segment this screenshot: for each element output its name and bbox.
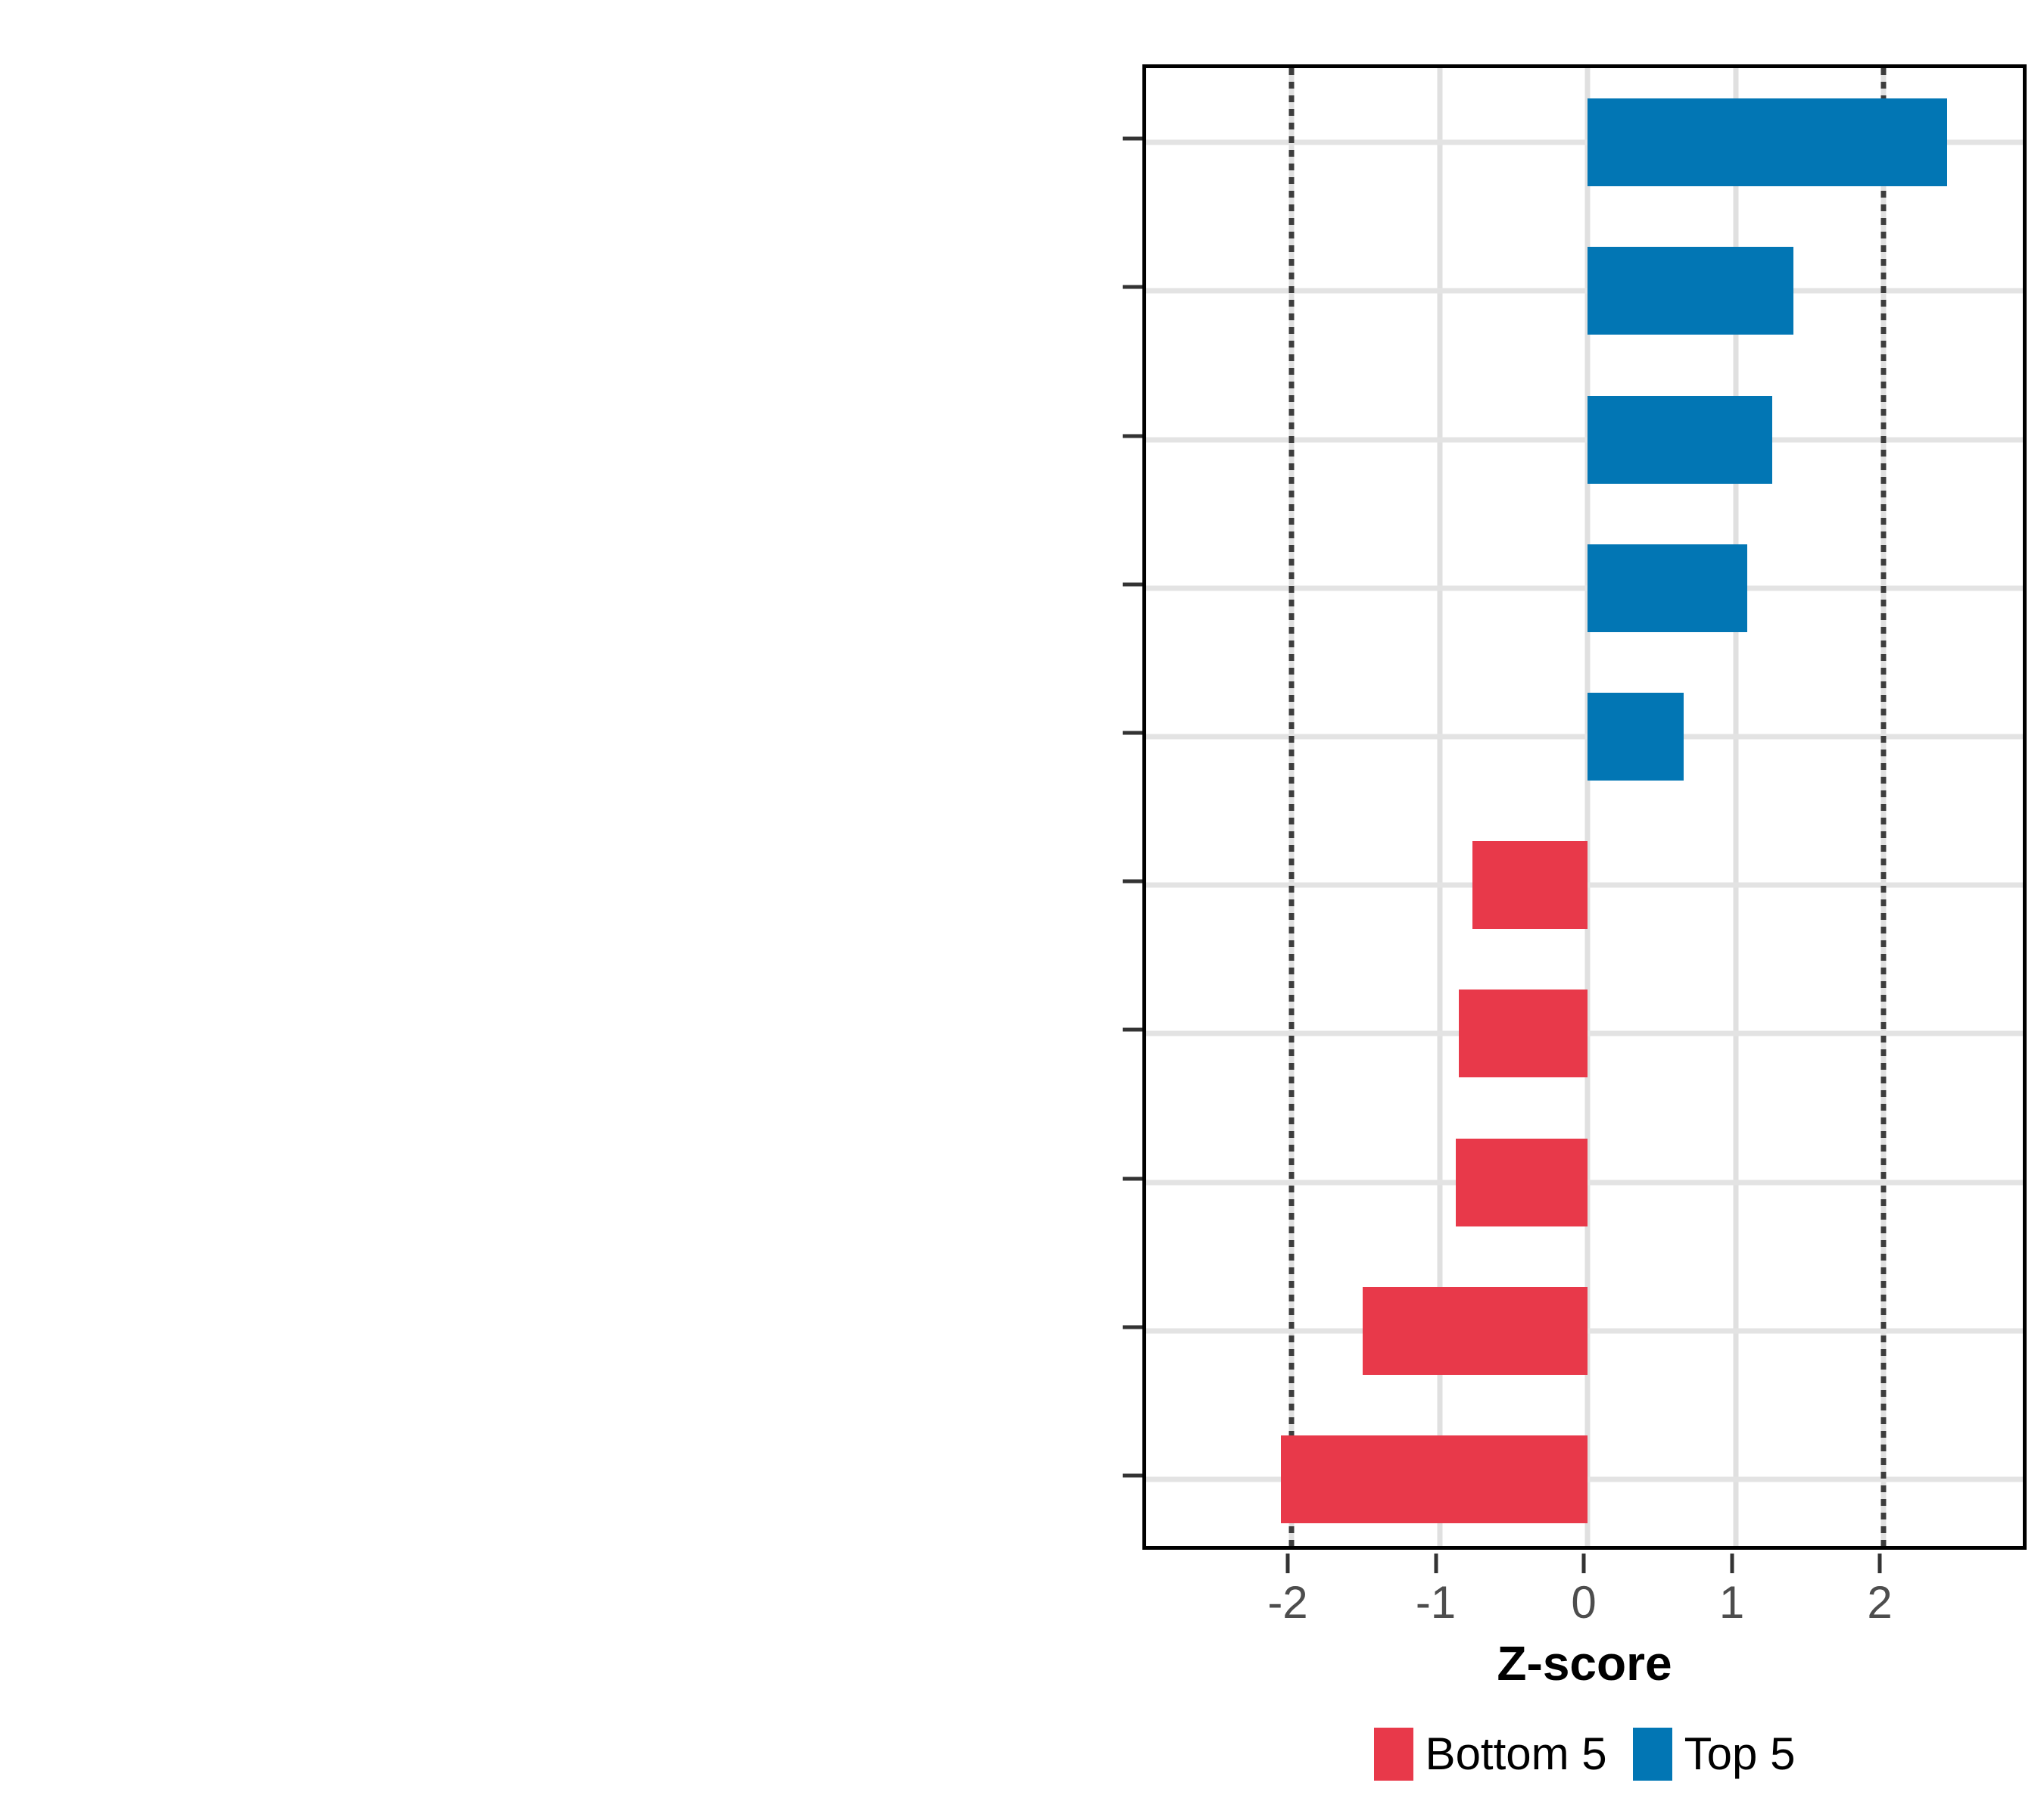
x-axis-tick-label: 0 bbox=[1571, 1578, 1596, 1628]
legend-swatch-icon bbox=[1374, 1728, 1413, 1781]
bar-bottom5 bbox=[1363, 1287, 1588, 1375]
x-axis-title: Z-score bbox=[1142, 1635, 2027, 1691]
y-axis-tick bbox=[1123, 1028, 1142, 1032]
plot-area bbox=[1146, 68, 2023, 1546]
gridline-horizontal bbox=[1146, 585, 2023, 591]
x-axis-tick-label: -1 bbox=[1416, 1578, 1456, 1628]
x-axis-tick bbox=[1878, 1554, 1882, 1573]
bar-top5 bbox=[1588, 693, 1684, 781]
bar-top5 bbox=[1588, 544, 1747, 632]
y-axis-tick bbox=[1123, 1325, 1142, 1329]
chart-figure: 5.9 Aging1.7 Glycan biosynthesis and met… bbox=[0, 0, 2044, 1817]
bar-top5 bbox=[1588, 98, 1947, 186]
legend-label: Top 5 bbox=[1684, 1728, 1796, 1781]
y-axis-tick bbox=[1123, 731, 1142, 734]
x-axis-tick bbox=[1582, 1554, 1586, 1573]
bar-bottom5 bbox=[1456, 1139, 1588, 1226]
x-axis-tick-label: 2 bbox=[1867, 1578, 1892, 1628]
y-axis-tick bbox=[1123, 582, 1142, 586]
reference-line bbox=[1881, 68, 1887, 1546]
bar-bottom5 bbox=[1472, 841, 1588, 929]
legend: Bottom 5Top 5 bbox=[1142, 1728, 2027, 1781]
gridline-horizontal bbox=[1146, 437, 2023, 442]
x-axis-tick bbox=[1286, 1554, 1290, 1573]
y-axis-tick bbox=[1123, 137, 1142, 141]
x-axis-tick-label: 1 bbox=[1719, 1578, 1744, 1628]
x-axis-tick-label: -2 bbox=[1267, 1578, 1307, 1628]
y-axis-tick bbox=[1123, 434, 1142, 438]
x-axis-tick bbox=[1730, 1554, 1734, 1573]
gridline-horizontal bbox=[1146, 734, 2023, 739]
bar-top5 bbox=[1588, 247, 1793, 335]
bar-bottom5 bbox=[1281, 1435, 1588, 1523]
legend-item[interactable]: Bottom 5 bbox=[1374, 1728, 1607, 1781]
legend-label: Bottom 5 bbox=[1426, 1728, 1607, 1781]
gridline-horizontal bbox=[1146, 288, 2023, 294]
y-axis-tick bbox=[1123, 285, 1142, 289]
bar-bottom5 bbox=[1459, 990, 1588, 1077]
y-axis-tick bbox=[1123, 1177, 1142, 1180]
reference-line bbox=[1289, 68, 1295, 1546]
x-axis-tick bbox=[1434, 1554, 1438, 1573]
legend-swatch-icon bbox=[1633, 1728, 1672, 1781]
y-axis-tick bbox=[1123, 1473, 1142, 1477]
plot-panel bbox=[1142, 64, 2027, 1550]
legend-item[interactable]: Top 5 bbox=[1633, 1728, 1796, 1781]
bar-top5 bbox=[1588, 396, 1772, 484]
y-axis-tick bbox=[1123, 880, 1142, 884]
